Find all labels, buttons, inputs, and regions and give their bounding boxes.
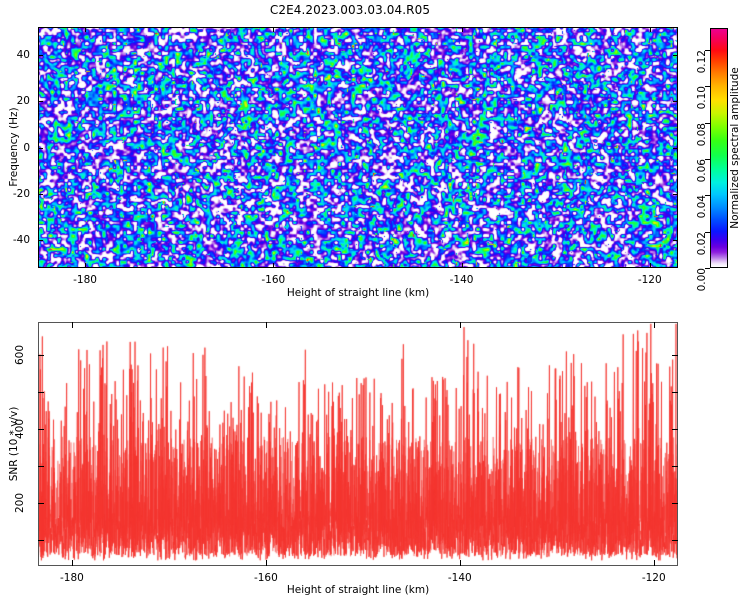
snr-y-tick-label: 600 [14,345,26,365]
spectrogram-x-tick-label: -180 [73,274,97,286]
snr-y-axis-title: SNR (10 * v/v) [8,407,20,482]
spectrogram-x-tick [273,263,274,268]
spectrogram-y-tick-label: -20 [13,188,30,200]
snr-y-tick [38,540,44,541]
spectrogram-panel [38,27,678,268]
snr-y-tick-label: 200 [14,493,26,513]
snr-x-tick [654,560,655,566]
colorbar-tick-label: 0.06 [696,159,708,182]
snr-x-tick-label: -140 [448,572,472,584]
snr-y-tick [672,503,678,504]
colorbar-axis-title: Normalized spectral amplitude [729,67,741,228]
colorbar-tick-label: 0.04 [696,195,708,218]
snr-y-tick [38,466,44,467]
spectrogram-x-tick [462,27,463,32]
snr-y-tick [672,466,678,467]
spectrogram-y-tick-label: 40 [17,49,30,61]
snr-y-tick [38,355,44,356]
spectrogram-y-tick [673,240,678,241]
spectrogram-x-tick [650,27,651,32]
spectrogram-x-tick-label: -120 [638,274,662,286]
snr-y-tick [672,429,678,430]
snr-x-tick [72,560,73,566]
snr-y-tick [38,429,44,430]
spectrogram-y-tick-label: 0 [23,142,30,154]
snr-x-axis-title: Height of straight line (km) [287,584,429,596]
spectrogram-x-axis-title: Height of straight line (km) [287,287,429,299]
spectrogram-y-tick [673,55,678,56]
colorbar-tick-label: 0.08 [696,123,708,146]
colorbar-tick-label: 0.02 [696,232,708,255]
snr-x-tick [460,560,461,566]
spectrogram-x-tick [462,263,463,268]
snr-x-tick [72,322,73,328]
spectrogram-x-tick-label: -140 [450,274,474,286]
spectrogram-x-tick [650,263,651,268]
snr-y-tick [38,503,44,504]
colorbar-tick-label: 0.10 [696,86,708,109]
spectrogram-y-tick-label: 20 [17,95,30,107]
spectrogram-x-tick [85,263,86,268]
snr-x-tick-label: -120 [642,572,666,584]
snr-x-tick [654,322,655,328]
snr-x-tick [266,322,267,328]
figure-root: C2E4.2023.003.03.04.R05 -180-160-140-120… [0,0,750,600]
snr-trace [38,322,678,566]
snr-x-tick-label: -180 [60,572,84,584]
snr-y-tick [672,355,678,356]
spectrogram-y-tick [673,194,678,195]
colorbar-gradient [710,28,728,268]
snr-panel [38,322,678,566]
snr-x-tick [460,322,461,328]
spectrogram-y-tick [38,194,43,195]
spectrogram-y-tick [38,101,43,102]
snr-y-tick [38,392,44,393]
spectrogram-y-tick [38,148,43,149]
spectrogram-y-tick [38,240,43,241]
spectrogram-y-axis-title: Frequency (Hz) [8,107,20,186]
spectrogram-x-tick [85,27,86,32]
colorbar [710,28,728,268]
colorbar-tick-label: 0.12 [696,50,708,73]
spectrogram-x-tick [273,27,274,32]
snr-y-tick [672,392,678,393]
snr-x-tick-label: -160 [254,572,278,584]
spectrogram-image [38,27,678,268]
spectrogram-y-tick [673,101,678,102]
page-title: C2E4.2023.003.03.04.R05 [0,3,700,17]
spectrogram-x-tick-label: -160 [261,274,285,286]
colorbar-tick-label: 0.00 [696,268,708,291]
spectrogram-y-tick-label: -40 [13,234,30,246]
spectrogram-y-tick [673,148,678,149]
spectrogram-y-tick [38,55,43,56]
snr-y-tick [672,540,678,541]
snr-x-tick [266,560,267,566]
